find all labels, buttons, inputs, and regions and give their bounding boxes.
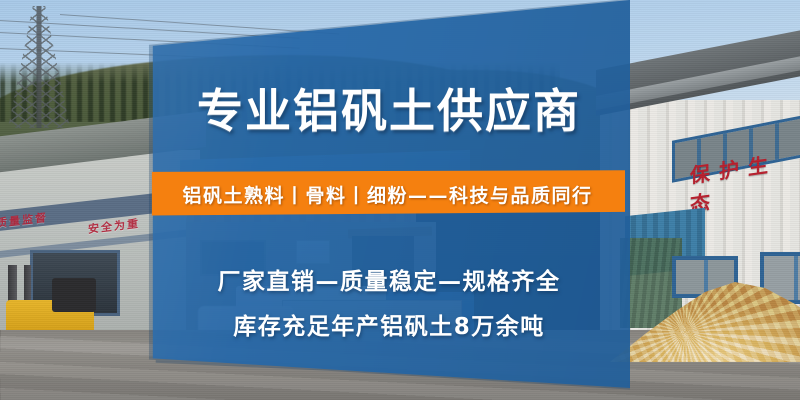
headline: 专业铝矾土供应商 — [152, 82, 626, 140]
banner-content: 专业铝矾土供应商 铝矾土熟料丨骨料丨细粉——科技与品质同行 厂家直销—质量稳定—… — [0, 0, 800, 400]
orange-ribbon-text: 铝矾土熟料丨骨料丨细粉——科技与品质同行 — [150, 172, 625, 216]
promotional-banner: 质量监督 安全为重 保护生态 — [0, 0, 800, 400]
subline-2: 库存充足年产铝矾土8万余吨 — [152, 307, 626, 341]
subline-1: 厂家直销—质量稳定—规格齐全 — [152, 262, 626, 296]
